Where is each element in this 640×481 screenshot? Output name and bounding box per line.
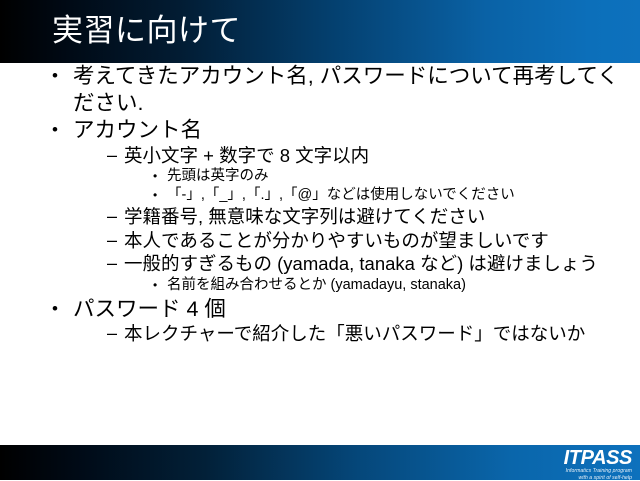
- list-item-label: 「-」,「_」,「.」,「@」などは使用しないでください: [167, 186, 640, 205]
- list-item: – 学籍番号, 無意味な文字列は避けてください: [107, 205, 640, 229]
- bullet-marker-icon: •: [52, 117, 58, 143]
- bullet-marker-icon: •: [153, 167, 157, 186]
- list-item: – 英小文字 + 数字で 8 文字以内 • 先頭は英字のみ • 「-」,「_」,…: [107, 144, 640, 206]
- bullet-list-level3: • 名前を組み合わせるとか (yamadayu, stanaka): [153, 276, 640, 295]
- list-item-label: 英小文字 + 数字で 8 文字以内: [124, 144, 640, 168]
- list-item-label: 本レクチャーで紹介した「悪いパスワード」ではないか: [124, 322, 640, 346]
- dash-marker-icon: –: [107, 144, 117, 167]
- dash-marker-icon: –: [107, 322, 117, 345]
- slide-footer-band: ITPASS Informatics Training program with…: [0, 445, 640, 480]
- page-title: 実習に向けて: [52, 10, 241, 52]
- list-item: • 名前を組み合わせるとか (yamadayu, stanaka): [153, 276, 640, 295]
- list-item-label: パスワード 4 個: [73, 296, 640, 323]
- list-item: – 本レクチャーで紹介した「悪いパスワード」ではないか: [107, 322, 640, 346]
- list-item: – 一般的すぎるもの (yamada, tanaka など) は避けましょう •…: [107, 252, 640, 295]
- bullet-list-level2: – 英小文字 + 数字で 8 文字以内 • 先頭は英字のみ • 「-」,「_」,…: [107, 144, 640, 295]
- bullet-marker-icon: •: [153, 276, 157, 295]
- dash-marker-icon: –: [107, 252, 117, 275]
- list-item: • パスワード 4 個 – 本レクチャーで紹介した「悪いパスワード」ではないか: [52, 296, 640, 346]
- list-item-label: アカウント名: [73, 117, 640, 144]
- bullet-list-level2: – 本レクチャーで紹介した「悪いパスワード」ではないか: [107, 322, 640, 346]
- bullet-list-level3: • 先頭は英字のみ • 「-」,「_」,「.」,「@」などは使用しないでください: [153, 167, 640, 205]
- list-item: • 「-」,「_」,「.」,「@」などは使用しないでください: [153, 186, 640, 205]
- list-item: • 考えてきたアカウント名, パスワードについて再考してください.: [52, 63, 640, 116]
- list-item-label: 名前を組み合わせるとか (yamadayu, stanaka): [167, 276, 640, 295]
- list-item: – 本人であることが分かりやすいものが望ましいです: [107, 229, 640, 253]
- itpass-logo: ITPASS Informatics Training program with…: [564, 448, 632, 481]
- list-item-label: 考えてきたアカウント名, パスワードについて再考してください.: [73, 63, 640, 116]
- bullet-marker-icon: •: [153, 186, 157, 205]
- list-item: • アカウント名 – 英小文字 + 数字で 8 文字以内 • 先頭は英字のみ •…: [52, 117, 640, 295]
- list-item-label: 一般的すぎるもの (yamada, tanaka など) は避けましょう: [124, 252, 640, 276]
- slide-content-area: • 考えてきたアカウント名, パスワードについて再考してください. • アカウン…: [0, 63, 640, 445]
- dash-marker-icon: –: [107, 205, 117, 228]
- bullet-list-level1: • 考えてきたアカウント名, パスワードについて再考してください. • アカウン…: [52, 63, 640, 346]
- itpass-tagline-line2: with a spirit of self-help: [564, 475, 632, 481]
- bullet-marker-icon: •: [52, 63, 58, 89]
- list-item-label: 先頭は英字のみ: [167, 167, 640, 186]
- list-item-label: 学籍番号, 無意味な文字列は避けてください: [124, 205, 640, 229]
- dash-marker-icon: –: [107, 229, 117, 252]
- slide-header-band: 実習に向けて: [0, 0, 640, 63]
- itpass-wordmark: ITPASS: [564, 448, 632, 468]
- list-item: • 先頭は英字のみ: [153, 167, 640, 186]
- bullet-marker-icon: •: [52, 296, 58, 322]
- list-item-label: 本人であることが分かりやすいものが望ましいです: [124, 229, 640, 253]
